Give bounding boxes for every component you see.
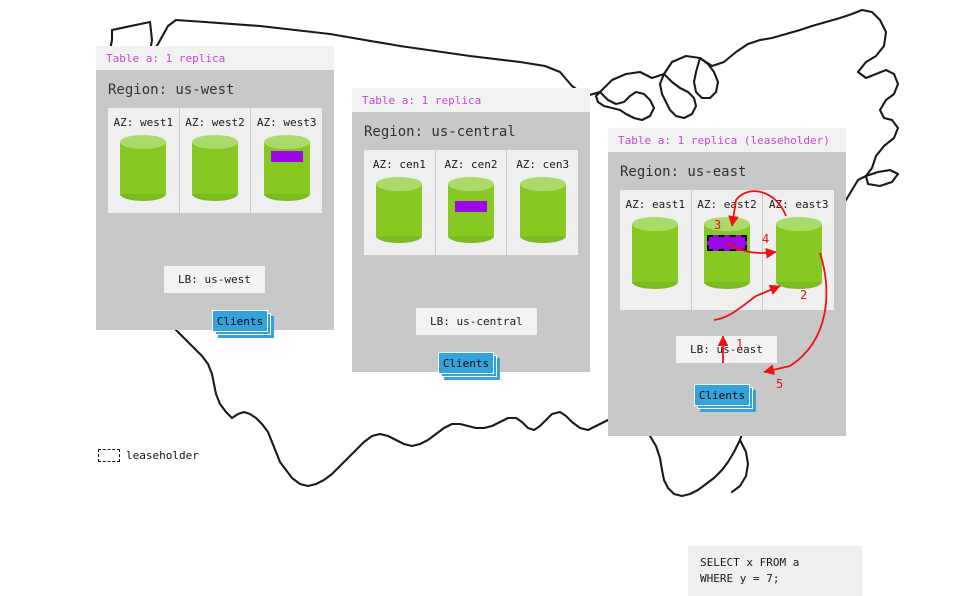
cylinder-body	[192, 142, 238, 194]
cylinder-top	[192, 135, 238, 149]
flow-step-3-number: 3	[714, 218, 721, 232]
load-balancer-us-west[interactable]: LB: us-west	[164, 266, 265, 293]
cylinder-body	[704, 224, 750, 282]
legend-leaseholder: leaseholder	[98, 449, 199, 462]
leaseholder-chip-east2	[707, 235, 747, 251]
az-west1[interactable]: AZ: west1	[108, 108, 180, 213]
az-east3[interactable]: AZ: east3	[763, 190, 834, 310]
clients-us-west[interactable]: Clients	[212, 310, 274, 338]
cylinder-top	[704, 217, 750, 231]
az-cen2[interactable]: AZ: cen2	[436, 150, 508, 255]
replica-cylinder-cen2[interactable]	[448, 177, 494, 243]
region-body-us-east: Region: us-east AZ: east1 AZ: east2	[608, 152, 846, 436]
cylinder-top	[520, 177, 566, 191]
legend-label: leaseholder	[126, 449, 199, 462]
replica-cylinder-west1[interactable]	[120, 135, 166, 201]
az-west3[interactable]: AZ: west3	[251, 108, 322, 213]
az-east3-label: AZ: east3	[763, 198, 834, 211]
region-header-us-west: Table a: 1 replica	[96, 46, 334, 70]
replica-cylinder-west3[interactable]	[264, 135, 310, 201]
region-body-us-west: Region: us-west AZ: west1 AZ: west2	[96, 70, 334, 330]
az-east2[interactable]: AZ: east2	[692, 190, 764, 310]
replica-cylinder-east2[interactable]	[704, 217, 750, 289]
clients-us-east[interactable]: Clients	[694, 384, 756, 412]
replica-chip-west3	[271, 151, 303, 162]
region-header-us-east: Table a: 1 replica (leaseholder)	[608, 128, 846, 152]
cylinder-top	[376, 177, 422, 191]
az-row-us-central: AZ: cen1 AZ: cen2	[364, 150, 578, 255]
load-balancer-us-east[interactable]: LB: us-east	[676, 336, 777, 363]
az-west1-label: AZ: west1	[108, 116, 179, 129]
leaseholder-swatch-icon	[98, 449, 120, 462]
cylinder-body	[776, 224, 822, 282]
region-panel-us-west: Table a: 1 replica Region: us-west AZ: w…	[96, 46, 334, 330]
clients-label: Clients	[438, 352, 494, 374]
replica-cylinder-west2[interactable]	[192, 135, 238, 201]
sql-query-box: SELECT x FROM a WHERE y = 7;	[688, 546, 862, 596]
replica-cylinder-cen1[interactable]	[376, 177, 422, 243]
cylinder-top	[776, 217, 822, 231]
replica-cylinder-east3[interactable]	[776, 217, 822, 289]
load-balancer-us-central[interactable]: LB: us-central	[416, 308, 537, 335]
az-east1-label: AZ: east1	[620, 198, 691, 211]
flow-step-1-number: 1	[736, 337, 743, 351]
cylinder-body	[376, 184, 422, 236]
az-cen3[interactable]: AZ: cen3	[507, 150, 578, 255]
replica-cylinder-cen3[interactable]	[520, 177, 566, 243]
az-row-us-west: AZ: west1 AZ: west2 AZ	[108, 108, 322, 213]
clients-label: Clients	[212, 310, 268, 332]
diagram-canvas: Table a: 1 replica Region: us-west AZ: w…	[0, 0, 960, 540]
region-panel-us-east: Table a: 1 replica (leaseholder) Region:…	[608, 128, 846, 436]
cylinder-body	[264, 142, 310, 194]
replica-cylinder-east1[interactable]	[632, 217, 678, 289]
region-header-us-central: Table a: 1 replica	[352, 88, 590, 112]
cylinder-body	[120, 142, 166, 194]
region-title-us-central: Region: us-central	[352, 112, 590, 150]
cylinder-top	[448, 177, 494, 191]
cylinder-top	[120, 135, 166, 149]
az-cen1[interactable]: AZ: cen1	[364, 150, 436, 255]
flow-step-4-number: 4	[762, 232, 769, 246]
replica-chip-cen2	[455, 201, 487, 212]
cylinder-top	[632, 217, 678, 231]
az-west2-label: AZ: west2	[180, 116, 251, 129]
flow-step-5-number: 5	[776, 377, 783, 391]
cylinder-top	[264, 135, 310, 149]
az-cen2-label: AZ: cen2	[436, 158, 507, 171]
flow-step-2-number: 2	[800, 288, 807, 302]
az-cen1-label: AZ: cen1	[364, 158, 435, 171]
clients-us-central[interactable]: Clients	[438, 352, 500, 380]
az-cen3-label: AZ: cen3	[507, 158, 578, 171]
cylinder-body	[632, 224, 678, 282]
az-east2-label: AZ: east2	[692, 198, 763, 211]
cylinder-body	[520, 184, 566, 236]
region-body-us-central: Region: us-central AZ: cen1 AZ: cen2	[352, 112, 590, 372]
clients-label: Clients	[694, 384, 750, 406]
region-title-us-west: Region: us-west	[96, 70, 334, 108]
region-panel-us-central: Table a: 1 replica Region: us-central AZ…	[352, 88, 590, 372]
az-west3-label: AZ: west3	[251, 116, 322, 129]
az-west2[interactable]: AZ: west2	[180, 108, 252, 213]
az-east1[interactable]: AZ: east1	[620, 190, 692, 310]
region-title-us-east: Region: us-east	[608, 152, 846, 190]
